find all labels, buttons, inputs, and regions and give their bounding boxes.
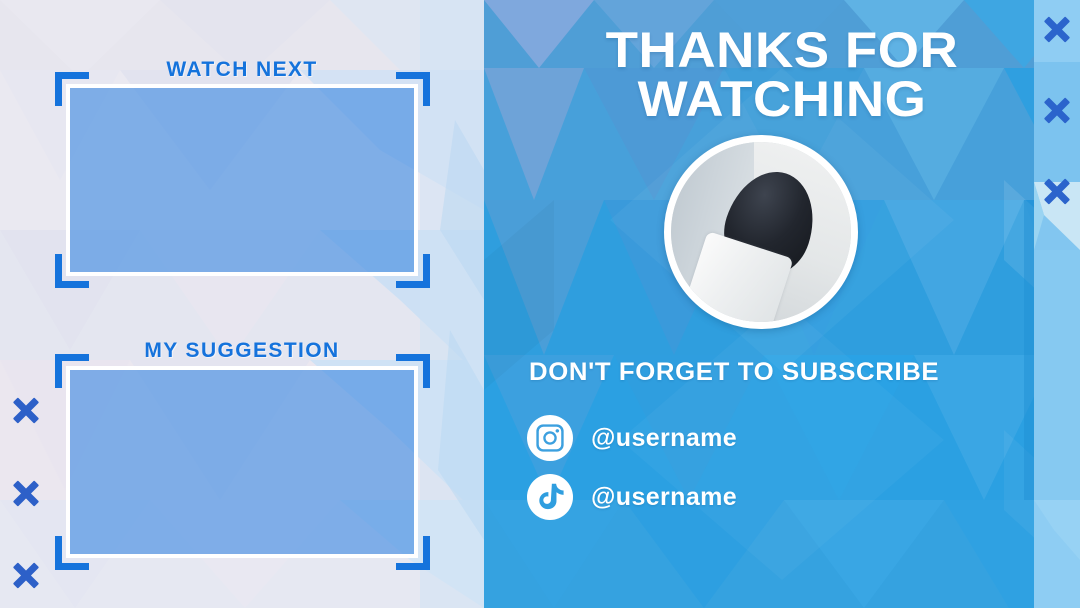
close-icon-right-2[interactable] [1042,95,1072,125]
close-icon-right-1[interactable] [1042,14,1072,44]
social-row-instagram[interactable]: @username [527,415,737,461]
avatar [664,135,858,329]
outro-end-screen: WATCH NEXT MY SUGGESTION THANKS FOR WATC… [0,0,1080,608]
close-icon-left-1[interactable] [11,395,41,425]
my-suggestion-block[interactable]: MY SUGGESTION [0,0,484,608]
avatar-photo-microphone [671,142,851,322]
close-icon-right-3[interactable] [1042,176,1072,206]
my-suggestion-video-slot[interactable] [66,366,418,558]
social-row-tiktok[interactable]: @username [527,474,737,520]
page-title: THANKS FOR WATCHING [466,26,1080,124]
headline-line-2: WATCHING [466,75,1080,124]
tiktok-handle: @username [591,483,737,512]
tiktok-icon[interactable] [527,474,573,520]
subscribe-cta: DON'T FORGET TO SUBSCRIBE [529,358,939,387]
close-icon-left-2[interactable] [11,478,41,508]
instagram-handle: @username [591,424,737,453]
instagram-icon[interactable] [527,415,573,461]
headline-line-1: THANKS FOR [606,22,959,78]
close-icon-left-3[interactable] [11,560,41,590]
